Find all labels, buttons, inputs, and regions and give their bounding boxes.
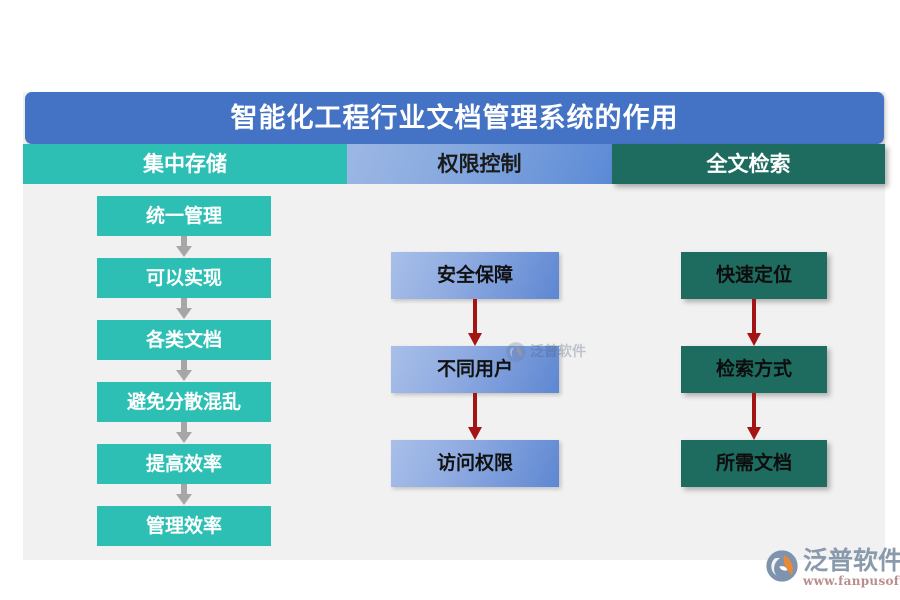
- slide-canvas: 智能化工程行业文档管理系统的作用 集中存储 权限控制 全文检索 统一管理 可以实…: [0, 0, 900, 600]
- arrow-down-icon: [97, 236, 271, 258]
- flow-node-label: 管理效率: [146, 517, 222, 536]
- arrow-down-icon: [681, 299, 827, 346]
- arrow-down-icon: [97, 422, 271, 444]
- column-permission-control: 安全保障 不同用户 访问权限: [391, 252, 559, 487]
- flow-node-label: 避免分散混乱: [127, 393, 241, 412]
- category-label: 集中存储: [143, 154, 227, 175]
- flow-node[interactable]: 安全保障: [391, 252, 559, 299]
- category-header-permission-control[interactable]: 权限控制: [347, 144, 612, 184]
- flow-node[interactable]: 避免分散混乱: [97, 382, 271, 422]
- category-label: 全文检索: [707, 154, 791, 175]
- arrow-down-icon: [97, 298, 271, 320]
- arrow-down-icon: [391, 393, 559, 440]
- brand-url: www.fanpusoft.com: [803, 574, 900, 588]
- page-title: 智能化工程行业文档管理系统的作用: [231, 105, 679, 132]
- flow-node[interactable]: 统一管理: [97, 196, 271, 236]
- brand-logo-words: 泛普软件 www.fanpusoft.com: [803, 548, 900, 589]
- flow-node[interactable]: 所需文档: [681, 440, 827, 487]
- arrow-down-icon: [681, 393, 827, 440]
- flow-node-label: 快速定位: [716, 266, 792, 285]
- flow-node-label: 不同用户: [437, 360, 513, 379]
- flow-node[interactable]: 不同用户: [391, 346, 559, 393]
- flow-node[interactable]: 访问权限: [391, 440, 559, 487]
- category-header-row: 集中存储 权限控制 全文检索: [23, 144, 885, 184]
- flow-node[interactable]: 各类文档: [97, 320, 271, 360]
- flow-node-label: 可以实现: [146, 269, 222, 288]
- fanpu-logo-icon: [765, 549, 799, 583]
- flow-node[interactable]: 提高效率: [97, 444, 271, 484]
- arrow-down-icon: [97, 360, 271, 382]
- column-full-text-search: 快速定位 检索方式 所需文档: [681, 252, 827, 487]
- flow-node-label: 统一管理: [146, 207, 222, 226]
- column-centralized-storage: 统一管理 可以实现 各类文档 避免分散混乱 提高效率 管理效: [97, 196, 271, 546]
- slide-title-bar: 智能化工程行业文档管理系统的作用: [25, 92, 884, 144]
- category-header-full-text-search[interactable]: 全文检索: [612, 144, 885, 184]
- flow-node[interactable]: 检索方式: [681, 346, 827, 393]
- flow-node-label: 提高效率: [146, 455, 222, 474]
- flow-node-label: 所需文档: [716, 454, 792, 473]
- category-label: 权限控制: [438, 154, 522, 175]
- flow-node[interactable]: 快速定位: [681, 252, 827, 299]
- arrow-down-icon: [97, 484, 271, 506]
- category-header-centralized-storage[interactable]: 集中存储: [23, 144, 347, 184]
- flow-node-label: 检索方式: [716, 360, 792, 379]
- flow-node-label: 访问权限: [437, 454, 513, 473]
- arrow-down-icon: [391, 299, 559, 346]
- flow-node-label: 安全保障: [437, 266, 513, 285]
- flow-node[interactable]: 可以实现: [97, 258, 271, 298]
- flow-node[interactable]: 管理效率: [97, 506, 271, 546]
- flow-node-label: 各类文档: [146, 331, 222, 350]
- brand-logo: 泛普软件 www.fanpusoft.com: [765, 548, 895, 594]
- brand-name: 泛普软件: [803, 548, 900, 574]
